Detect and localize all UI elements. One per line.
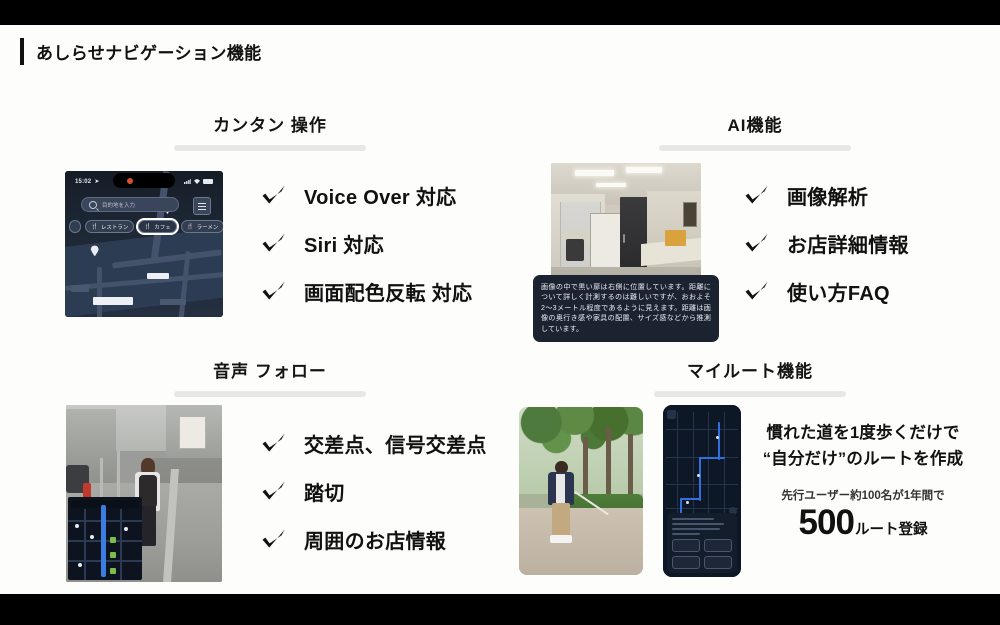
list-item-label: お店詳細情報: [787, 229, 909, 258]
street-walking-photo: [66, 405, 222, 582]
map-node: [78, 563, 82, 567]
signal-bars-icon: [184, 179, 191, 184]
pedestrian-legs: [140, 506, 157, 546]
route-line: [699, 457, 701, 502]
pedestrian-with-cane: [546, 461, 576, 545]
stat-unit: ルート登録: [855, 518, 928, 539]
section-underline: [174, 391, 366, 397]
office-chair: [566, 239, 584, 261]
slide-frame: あしらせナビゲーション機能 カンタン 操作: [0, 0, 1000, 625]
paved-path: [519, 508, 643, 575]
street-photo-surface: [66, 405, 222, 582]
feature-list-voice-follow: 交差点、信号交差点 踏切 周囲のお店情報: [260, 429, 487, 554]
section-underline: [659, 145, 851, 151]
list-item: Voice Over 対応: [260, 181, 472, 210]
map-grid-line: [84, 509, 86, 580]
letterbox-top: [0, 0, 1000, 25]
list-item: 交差点、信号交差点: [260, 429, 487, 458]
section-my-route: マイルート機能: [505, 329, 975, 589]
route-line: [718, 422, 720, 460]
ai-image-analysis-media: 画像の中で黒い扉は右側に位置しています。距離について詳しく計測するのは難しいです…: [533, 163, 723, 335]
section-underline: [654, 391, 846, 397]
map-road: [97, 267, 102, 317]
ramen-icon: 🍴: [187, 224, 194, 230]
section-heading-label: マイルート機能: [640, 357, 860, 382]
route-map-phone: [663, 405, 741, 577]
search-icon: [89, 201, 97, 209]
search-input[interactable]: 目的地を入力: [81, 197, 179, 212]
list-item-label: Voice Over 対応: [304, 181, 456, 210]
section-heading-label: カンタン 操作: [160, 111, 380, 136]
panel-text-line: [672, 533, 700, 535]
route-marker: [110, 537, 116, 543]
list-item: Siri 対応: [260, 229, 472, 258]
stat-caption: 先行ユーザー約100名が1年間で: [753, 487, 973, 503]
map-grid-line: [120, 509, 122, 580]
section-ai-features: AI機能: [505, 83, 975, 335]
chip-label: レストラン: [101, 223, 129, 231]
map-node: [90, 535, 94, 539]
trousers: [552, 503, 570, 537]
panel-text-line: [672, 518, 714, 520]
check-icon: [743, 182, 770, 209]
map-place-label: [93, 297, 133, 305]
door-handle: [623, 234, 625, 243]
check-icon: [743, 230, 770, 257]
category-chip-row: 🍴 レストラン 🍴 カフェ 🍴 ラーメン: [69, 220, 223, 233]
section-header-easy-operation: カンタン 操作: [160, 111, 380, 151]
list-item-label: 画面配色反転 対応: [304, 277, 472, 306]
location-arrow-icon: ➤: [94, 178, 99, 185]
route-line: [680, 498, 700, 500]
title-accent-bar: [20, 38, 24, 65]
ceiling-light: [575, 170, 614, 176]
section-easy-operation: カンタン 操作 15:02 ➤: [30, 83, 500, 335]
phone-map-screenshot: 15:02 ➤ 目的地を入力: [65, 171, 223, 317]
tree-canopy: [519, 407, 643, 494]
panel-button-row: [672, 556, 732, 569]
map-inset-overlay: [68, 497, 142, 580]
list-item-label: 交差点、信号交差点: [304, 429, 487, 458]
route-line: [699, 457, 725, 459]
map-place-label: [71, 285, 89, 292]
check-icon: [260, 526, 287, 553]
ceiling-light: [626, 167, 662, 173]
back-button-icon[interactable]: [667, 410, 676, 419]
route-marker: [110, 552, 116, 558]
map-grid-line: [666, 508, 738, 509]
slide-canvas: あしらせナビゲーション機能 カンタン 操作: [0, 25, 1000, 594]
map-street-label: [147, 273, 169, 279]
panel-text-line: [672, 523, 724, 525]
copy-line-2: “自分だけ”のルートを作成: [753, 447, 973, 473]
restaurant-icon: 🍴: [91, 224, 98, 230]
chip-restaurant[interactable]: 🍴 レストラン: [85, 220, 134, 233]
list-item: お店詳細情報: [743, 229, 909, 258]
wifi-icon: [194, 179, 200, 184]
cafe-icon: 🍴: [144, 224, 151, 230]
wall-frame: [683, 202, 697, 226]
check-icon: [260, 278, 287, 305]
letterbox-bottom: [0, 594, 1000, 625]
section-heading-label: AI機能: [645, 111, 865, 136]
status-indicators: [184, 179, 213, 184]
list-item-label: Siri 対応: [304, 229, 384, 258]
hamburger-icon[interactable]: [193, 197, 211, 215]
chip-cafe[interactable]: 🍴 カフェ: [138, 220, 176, 233]
list-item-label: 使い方FAQ: [787, 277, 890, 306]
list-item: 踏切: [260, 477, 487, 506]
panel-button[interactable]: [672, 556, 700, 569]
hamburger-line: [198, 203, 206, 204]
feature-list-ai-features: 画像解析 お店詳細情報 使い方FAQ: [743, 181, 909, 306]
map-grid-line: [666, 429, 738, 430]
stat-number: 500: [799, 505, 854, 542]
chip-label: カフェ: [154, 223, 171, 231]
list-item: 周囲のお店情報: [260, 525, 487, 554]
panel-button[interactable]: [704, 539, 732, 552]
counter-objects: [665, 230, 686, 245]
my-route-copy: 慣れた道を1度歩くだけで “自分だけ”のルートを作成 先行ユーザー約100名が1…: [753, 421, 973, 542]
map-grid-line: [666, 484, 738, 485]
check-icon: [260, 182, 287, 209]
panel-button-row: [672, 539, 732, 552]
feature-list-easy-operation: Voice Over 対応 Siri 対応 画面配色反転 対応: [260, 181, 472, 306]
phone-map-surface: 15:02 ➤ 目的地を入力: [65, 171, 223, 317]
map-place-label: [160, 299, 186, 305]
section-underline: [174, 145, 366, 151]
status-time: 15:02: [75, 179, 91, 185]
check-icon: [743, 278, 770, 305]
whiteboard: [590, 213, 622, 271]
chip-label: ラーメン: [197, 223, 219, 231]
chip-overflow-left[interactable]: [69, 220, 81, 233]
page-title: あしらせナビゲーション機能: [20, 38, 262, 65]
list-item-label: 周囲のお店情報: [304, 525, 446, 554]
list-item: 画像解析: [743, 181, 909, 210]
ceiling-light: [596, 183, 626, 187]
stat-row: 500 ルート登録: [753, 505, 973, 542]
search-placeholder: 目的地を入力: [102, 201, 135, 209]
list-item-label: 画像解析: [787, 181, 868, 210]
map-node: [75, 524, 79, 528]
shop-sign: [179, 416, 206, 450]
panel-text-line: [672, 528, 720, 530]
shirt: [556, 474, 565, 504]
section-voice-follow: 音声 フォロー: [30, 329, 500, 589]
hamburger-line: [198, 206, 206, 207]
check-icon: [260, 430, 287, 457]
panel-button[interactable]: [704, 556, 732, 569]
check-icon: [260, 478, 287, 505]
map-node: [716, 436, 719, 439]
section-heading-label: 音声 フォロー: [160, 357, 380, 382]
check-icon: [260, 230, 287, 257]
walking-with-cane-photo: [519, 407, 643, 575]
list-item: 画面配色反転 対応: [260, 277, 472, 306]
route-line: [101, 505, 106, 576]
section-header-my-route: マイルート機能: [640, 357, 860, 397]
title-label: あしらせナビゲーション機能: [36, 39, 262, 64]
route-marker: [110, 568, 116, 574]
section-header-voice-follow: 音声 フォロー: [160, 357, 380, 397]
chip-ramen[interactable]: 🍴 ラーメン: [181, 220, 223, 233]
route-info-panel: [667, 513, 737, 573]
map-node: [124, 527, 128, 531]
my-route-media: [519, 405, 741, 577]
battery-icon: [203, 179, 213, 184]
list-item-label: 踏切: [304, 477, 345, 506]
phone-status-bar: 15:02 ➤: [65, 175, 223, 188]
hamburger-line: [198, 209, 206, 210]
panel-button[interactable]: [672, 539, 700, 552]
list-item: 使い方FAQ: [743, 277, 909, 306]
copy-line-1: 慣れた道を1度歩くだけで: [753, 421, 973, 447]
shoes: [550, 535, 571, 543]
section-header-ai-features: AI機能: [645, 111, 865, 151]
